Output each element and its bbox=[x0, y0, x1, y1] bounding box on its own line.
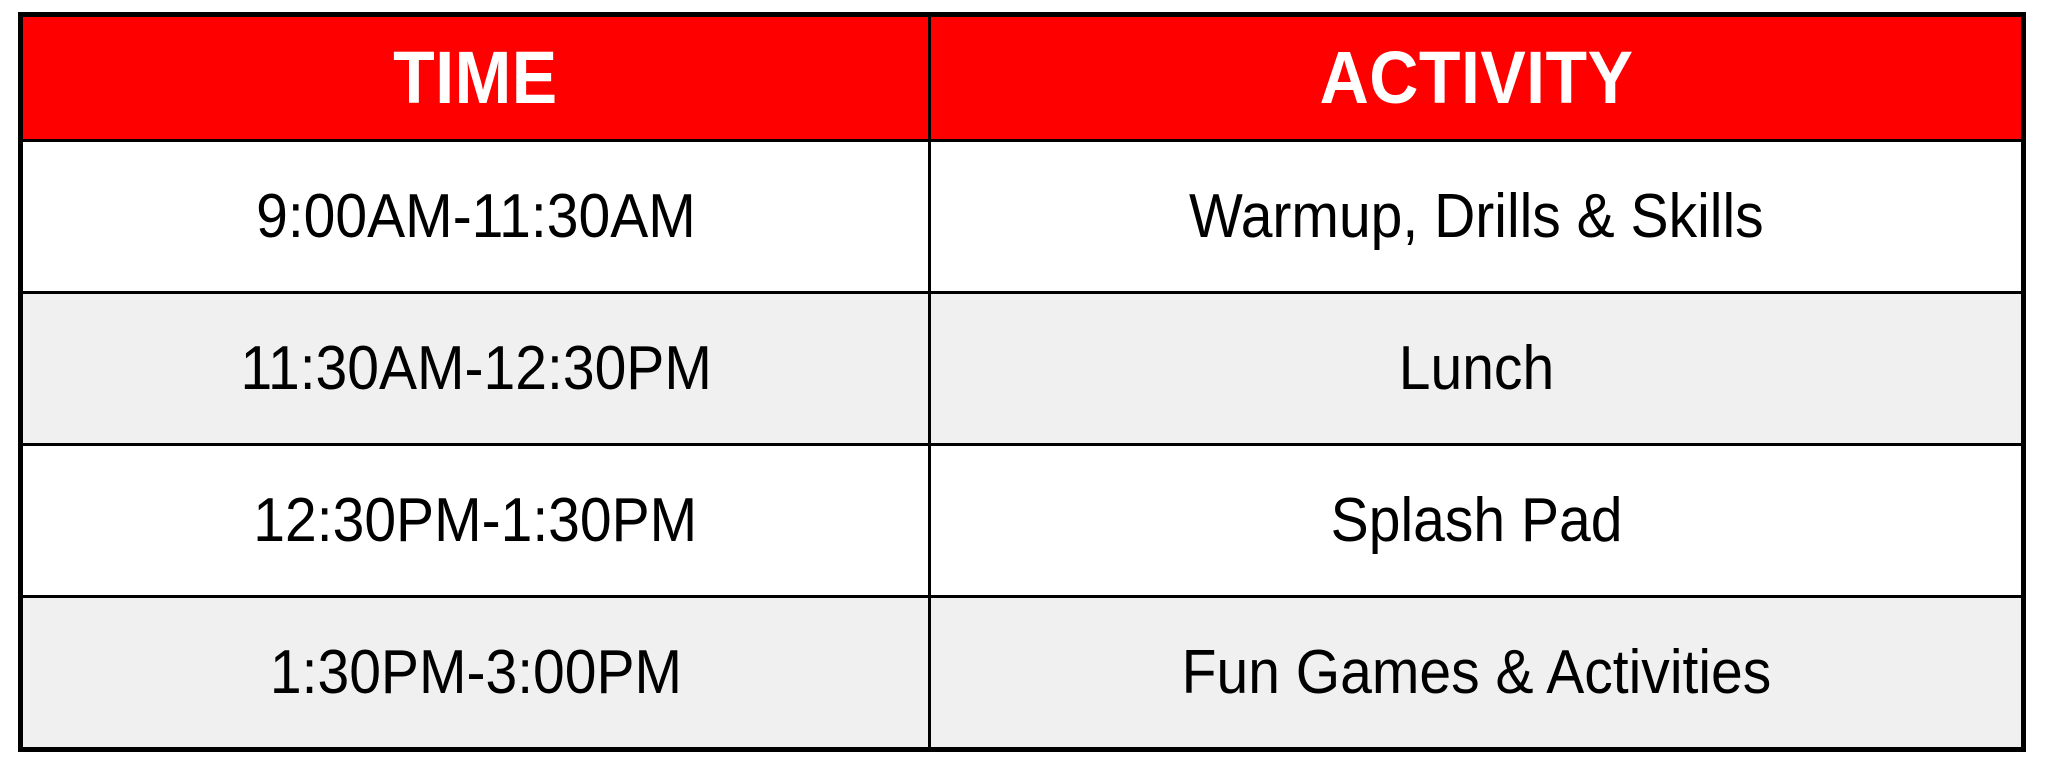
column-header-time: TIME bbox=[21, 15, 930, 141]
table-row: 11:30AM-12:30PM Lunch bbox=[21, 292, 2024, 444]
column-header-activity: ACTIVITY bbox=[930, 15, 2024, 141]
cell-activity: Warmup, Drills & Skills bbox=[930, 141, 2024, 293]
table-header: TIME ACTIVITY bbox=[21, 15, 2024, 141]
table-body: 9:00AM-11:30AM Warmup, Drills & Skills 1… bbox=[21, 141, 2024, 750]
table-header-row: TIME ACTIVITY bbox=[21, 15, 2024, 141]
cell-time: 9:00AM-11:30AM bbox=[21, 141, 930, 293]
schedule-table-container: TIME ACTIVITY 9:00AM-11:30AM Warmup, Dri… bbox=[18, 12, 2026, 752]
cell-time-value: 1:30PM-3:00PM bbox=[270, 640, 682, 705]
table-row: 1:30PM-3:00PM Fun Games & Activities bbox=[21, 596, 2024, 749]
schedule-table: TIME ACTIVITY 9:00AM-11:30AM Warmup, Dri… bbox=[18, 12, 2026, 752]
cell-time: 12:30PM-1:30PM bbox=[21, 444, 930, 596]
cell-activity-value: Splash Pad bbox=[1330, 488, 1622, 553]
cell-time-value: 9:00AM-11:30AM bbox=[256, 184, 696, 249]
cell-activity: Lunch bbox=[930, 292, 2024, 444]
cell-time: 11:30AM-12:30PM bbox=[21, 292, 930, 444]
cell-time: 1:30PM-3:00PM bbox=[21, 596, 930, 749]
column-header-time-label: TIME bbox=[393, 39, 557, 117]
cell-activity: Splash Pad bbox=[930, 444, 2024, 596]
schedule-page: TIME ACTIVITY 9:00AM-11:30AM Warmup, Dri… bbox=[0, 0, 2048, 778]
cell-activity: Fun Games & Activities bbox=[930, 596, 2024, 749]
cell-activity-value: Lunch bbox=[1398, 336, 1553, 401]
cell-activity-value: Warmup, Drills & Skills bbox=[1189, 184, 1764, 249]
cell-time-value: 11:30AM-12:30PM bbox=[240, 336, 711, 401]
table-row: 12:30PM-1:30PM Splash Pad bbox=[21, 444, 2024, 596]
cell-activity-value: Fun Games & Activities bbox=[1181, 640, 1771, 705]
table-row: 9:00AM-11:30AM Warmup, Drills & Skills bbox=[21, 141, 2024, 293]
column-header-activity-label: ACTIVITY bbox=[1319, 39, 1633, 117]
cell-time-value: 12:30PM-1:30PM bbox=[254, 488, 698, 553]
